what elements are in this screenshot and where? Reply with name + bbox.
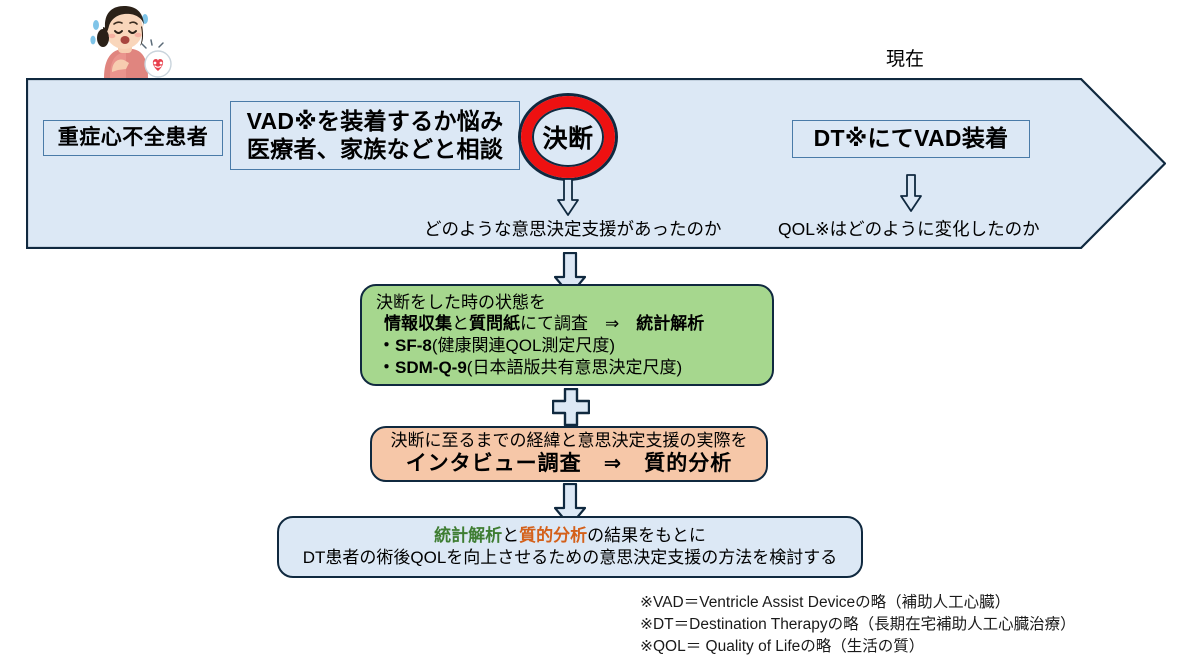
conclusion-statistical-analysis: 統計解析 — [434, 526, 502, 545]
decision-circle: 決断 — [518, 93, 618, 181]
decision-label: 決断 — [542, 119, 593, 155]
now-label: 現在 — [860, 44, 950, 71]
quantitative-line-4: ・SDM-Q-9(日本語版共有意思決定尺度) — [374, 357, 762, 379]
conclusion-qualitative-analysis: 質的分析 — [519, 526, 587, 545]
dt-down-arrow-icon — [900, 174, 922, 212]
qualitative-line-1: 決断に至るまでの経緯と意思決定支援の実際を — [391, 431, 748, 451]
question-qol-change: QOL※はどのように変化したのか — [778, 216, 1040, 241]
conclusion-box: 統計解析と質的分析の結果をもとに DT患者の術後QOLを向上させるための意思決定… — [277, 516, 863, 578]
quantitative-survey-arrow: にて調査 ⇒ — [520, 314, 636, 333]
quantitative-line-1: 決断をした時の状態を — [374, 292, 762, 314]
severe-heart-failure-label: 重症心不全患者 — [43, 120, 223, 156]
footnote-qol: ※QOL＝ Quality of Lifeの略（生活の質） — [640, 636, 1076, 658]
scale-sf8-desc: (健康関連QOL測定尺度) — [432, 336, 615, 355]
conclusion-line-2: DT患者の術後QOLを向上させるための意思決定支援の方法を検討する — [303, 547, 838, 569]
conclusion-conj: と — [502, 526, 519, 545]
scale-sf8-name: ・SF-8 — [378, 336, 432, 355]
quantitative-conj-1: と — [452, 314, 469, 333]
footnote-dt: ※DT＝Destination Therapyの略（長期在宅補助人工心臓治療） — [640, 614, 1076, 636]
quantitative-info-collection: 情報収集 — [384, 314, 452, 333]
footnotes: ※VAD＝Ventricle Assist Deviceの略（補助人工心臓） ※… — [640, 592, 1076, 658]
patient-illustration-icon — [74, 0, 178, 80]
qualitative-line-2: インタビュー調査 ⇒ 質的分析 — [406, 451, 733, 477]
vad-consideration-line-2: 医療者、家族などと相談 — [247, 136, 503, 163]
conclusion-suffix: の結果をもとに — [587, 526, 706, 545]
dt-vad-label: DT※にてVAD装着 — [792, 120, 1030, 158]
vad-consideration-line-1: VAD※を装着するか悩み — [247, 108, 504, 135]
decision-down-arrow-icon — [557, 178, 579, 216]
diagram-canvas: 現在 重症心不全患者 VAD※を装着するか悩み 医療者、家族などと相談 決断 D… — [0, 0, 1178, 667]
scale-sdmq9-desc: (日本語版共有意思決定尺度) — [467, 358, 682, 377]
quantitative-line-3: ・SF-8(健康関連QOL測定尺度) — [374, 335, 762, 357]
conclusion-line-1: 統計解析と質的分析の結果をもとに — [434, 525, 706, 547]
footnote-vad: ※VAD＝Ventricle Assist Deviceの略（補助人工心臓） — [640, 592, 1076, 614]
qualitative-research-box: 決断に至るまでの経緯と意思決定支援の実際を インタビュー調査 ⇒ 質的分析 — [370, 426, 768, 482]
quantitative-statistical-analysis: 統計解析 — [636, 314, 704, 333]
plus-connector-icon — [552, 388, 590, 426]
quantitative-questionnaire: 質問紙 — [469, 314, 520, 333]
scale-sdmq9-name: ・SDM-Q-9 — [378, 358, 467, 377]
vad-consideration-label: VAD※を装着するか悩み 医療者、家族などと相談 — [230, 101, 520, 170]
quantitative-research-box: 決断をした時の状態を 情報収集と質問紙にて調査 ⇒ 統計解析 ・SF-8(健康関… — [360, 284, 774, 386]
quantitative-line-2: 情報収集と質問紙にて調査 ⇒ 統計解析 — [374, 313, 762, 335]
question-decision-support: どのような意思決定支援があったのか — [424, 216, 722, 241]
